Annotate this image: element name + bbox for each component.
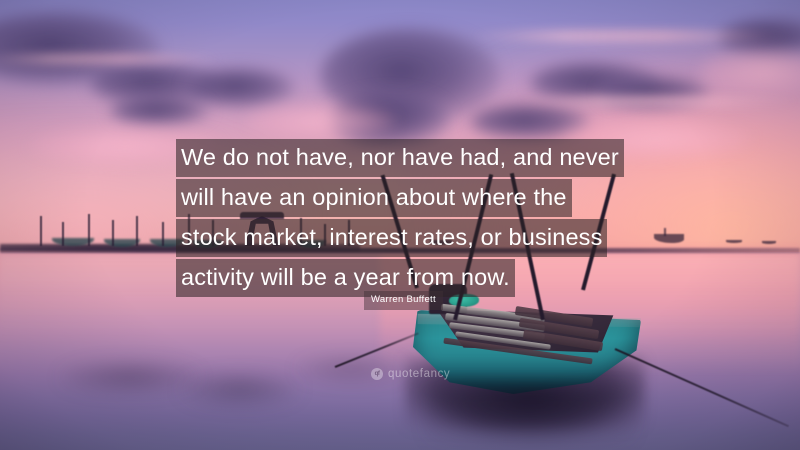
quote-line-4: activity will be a year from now. <box>176 259 515 297</box>
watermark: qf quotefancy <box>371 368 450 380</box>
cloud-dark-low-left <box>110 96 210 126</box>
water-reflection-center <box>180 372 300 406</box>
water-reflection-left <box>60 362 200 392</box>
quotefancy-logo-icon: qf <box>371 368 383 380</box>
cloud-wisp-upper-right <box>470 30 790 42</box>
far-ship-right-mast <box>664 228 666 236</box>
pier-pole-4 <box>112 220 114 246</box>
cloud-wisp-upper-left <box>0 54 220 64</box>
far-ship-far-right-b <box>762 241 776 244</box>
far-ship-far-right-a <box>726 240 742 243</box>
cloud-wisp-mid-right <box>520 96 800 106</box>
quote-text-block: We do not have, nor have had, and never … <box>176 139 628 299</box>
pier-pole-6 <box>162 222 164 246</box>
pier-pole-3 <box>88 214 90 246</box>
boat-water-reflection <box>425 388 635 444</box>
quote-image: We do not have, nor have had, and never … <box>0 0 800 450</box>
quote-line-2: will have an opinion about where the <box>176 179 572 217</box>
pier-pole-2 <box>62 222 64 246</box>
watermark-label: quotefancy <box>388 368 450 380</box>
pier-pole-5 <box>136 216 138 246</box>
quote-line-3: stock market, interest rates, or busines… <box>176 219 607 257</box>
quote-line-1: We do not have, nor have had, and never <box>176 139 624 177</box>
quote-author: Warren Buffett <box>364 291 443 310</box>
cloud-pink-center <box>246 104 396 138</box>
pier-pole-1 <box>40 216 42 246</box>
